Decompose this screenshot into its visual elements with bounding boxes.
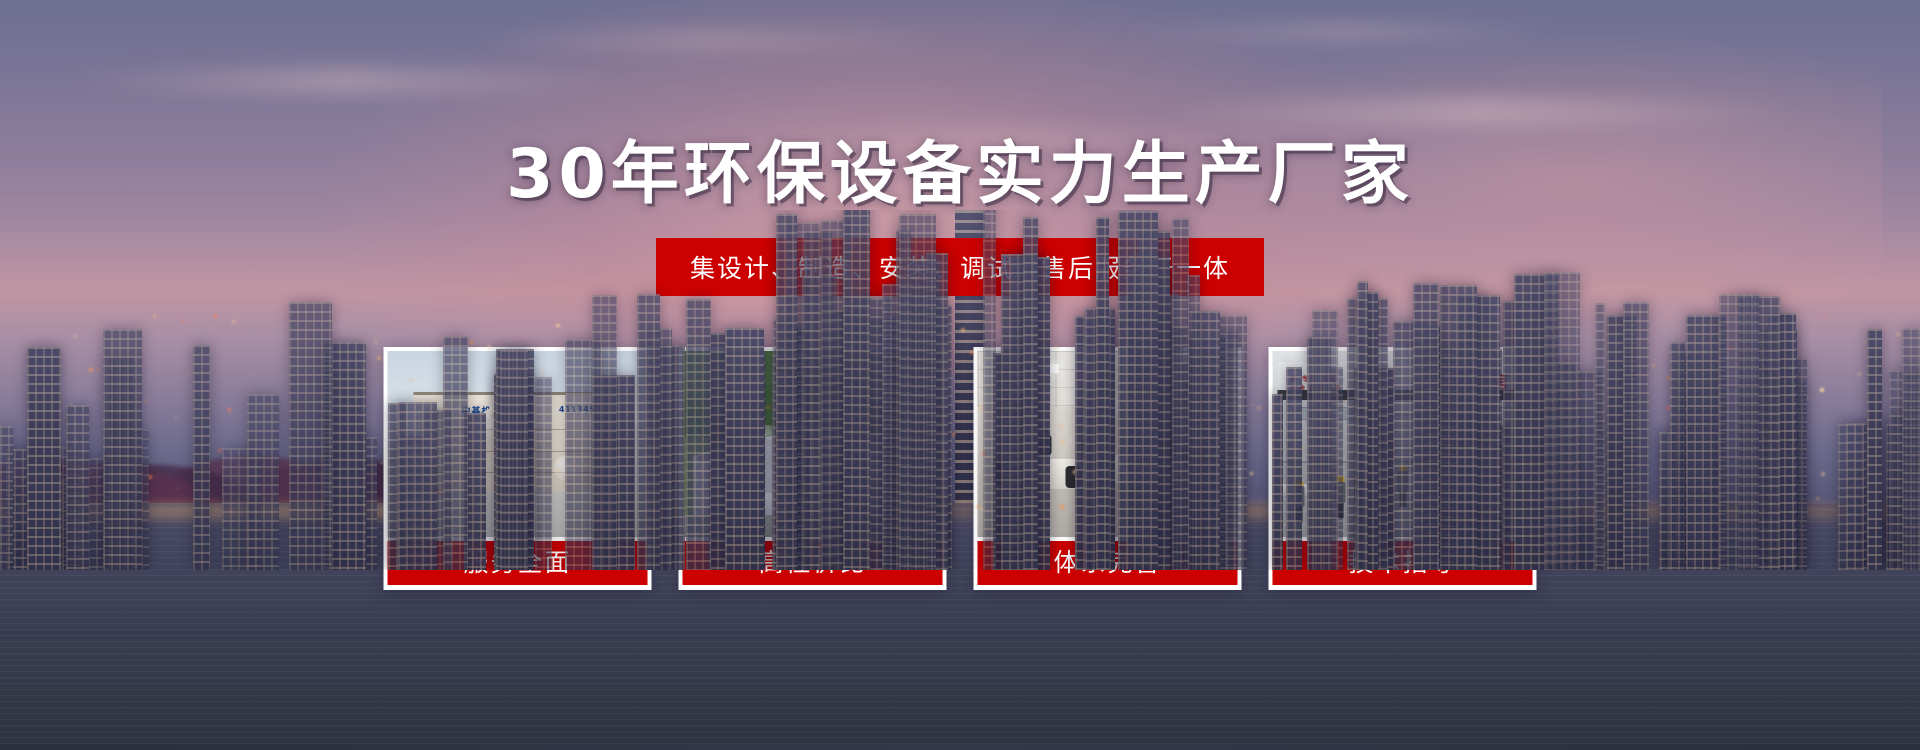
city-light [89, 368, 93, 372]
river-bank [0, 744, 1920, 750]
skyline-building [1286, 367, 1301, 570]
skyline-building [1902, 328, 1920, 570]
skyline-building [1440, 285, 1477, 570]
skyline-building [725, 328, 765, 570]
skyline-building [1623, 302, 1648, 570]
city-light [766, 406, 769, 409]
skyline-building [1719, 294, 1759, 570]
skyline-building [1172, 218, 1189, 570]
city-light [952, 433, 955, 436]
city-light [1834, 412, 1835, 413]
skyline-building [27, 347, 61, 570]
city-light [232, 320, 235, 323]
cloud-streak [1114, 23, 1575, 41]
skyline-building [1544, 272, 1580, 570]
skyline-building [443, 336, 468, 570]
city-light [961, 328, 965, 332]
city-light [1820, 388, 1824, 392]
skyline-building [1312, 310, 1338, 570]
city-light [487, 345, 491, 349]
skyline-building [247, 394, 279, 570]
city-light [146, 400, 148, 402]
skyline-building [1670, 342, 1686, 570]
city-light [556, 470, 559, 473]
city-light [1065, 412, 1066, 413]
skyline-building [899, 214, 935, 570]
skyline-building [1096, 217, 1108, 570]
city-light [377, 356, 381, 360]
city-light [1652, 364, 1655, 367]
skyline-building [776, 214, 797, 570]
skyline-building [637, 294, 661, 570]
skyline-building [983, 210, 995, 570]
skyline-building [535, 377, 552, 570]
city-light [1250, 472, 1252, 474]
city-light [1060, 425, 1063, 428]
skyline-building [1838, 424, 1864, 570]
cloud-streak [461, 30, 960, 50]
skyline-building [1118, 211, 1158, 570]
skyline-building [1595, 303, 1605, 570]
city-light [214, 315, 217, 318]
page-title: 30年环保设备实力生产厂家 [0, 118, 1920, 217]
skyline-building [592, 295, 617, 570]
city-light [380, 462, 383, 465]
skyline-building [686, 299, 711, 570]
city-light [1251, 404, 1253, 406]
skyline-building [193, 345, 210, 570]
skyline-building [1413, 283, 1439, 570]
skyline-building [0, 426, 13, 570]
city-light [1257, 406, 1261, 410]
skyline-building [398, 402, 436, 570]
skyline-building [1218, 315, 1248, 570]
hero-banner: 30年环保设备实力生产厂家 集设计、制造、安装、调试、售后服务于一体 中基机械 … [0, 0, 1920, 750]
skyline-building [500, 350, 528, 570]
skyline-building [1867, 329, 1882, 570]
city-light [410, 379, 412, 381]
skyline-building [103, 329, 142, 570]
city-light [1821, 472, 1825, 476]
skyline-building [1357, 281, 1368, 570]
city-light [541, 371, 545, 375]
skyline-building [1272, 394, 1283, 570]
skyline-building [289, 302, 332, 570]
city-light [218, 449, 221, 452]
city-light [1896, 333, 1900, 337]
city-light [177, 488, 178, 489]
city-light [1858, 373, 1861, 376]
city-light [1060, 505, 1064, 509]
city-light [182, 320, 184, 322]
cloud-streak [58, 68, 634, 94]
skyline-building [66, 405, 89, 570]
city-light [175, 416, 176, 417]
skyline-building [1023, 217, 1039, 570]
skyline-building [843, 210, 870, 570]
city-light [725, 320, 726, 321]
